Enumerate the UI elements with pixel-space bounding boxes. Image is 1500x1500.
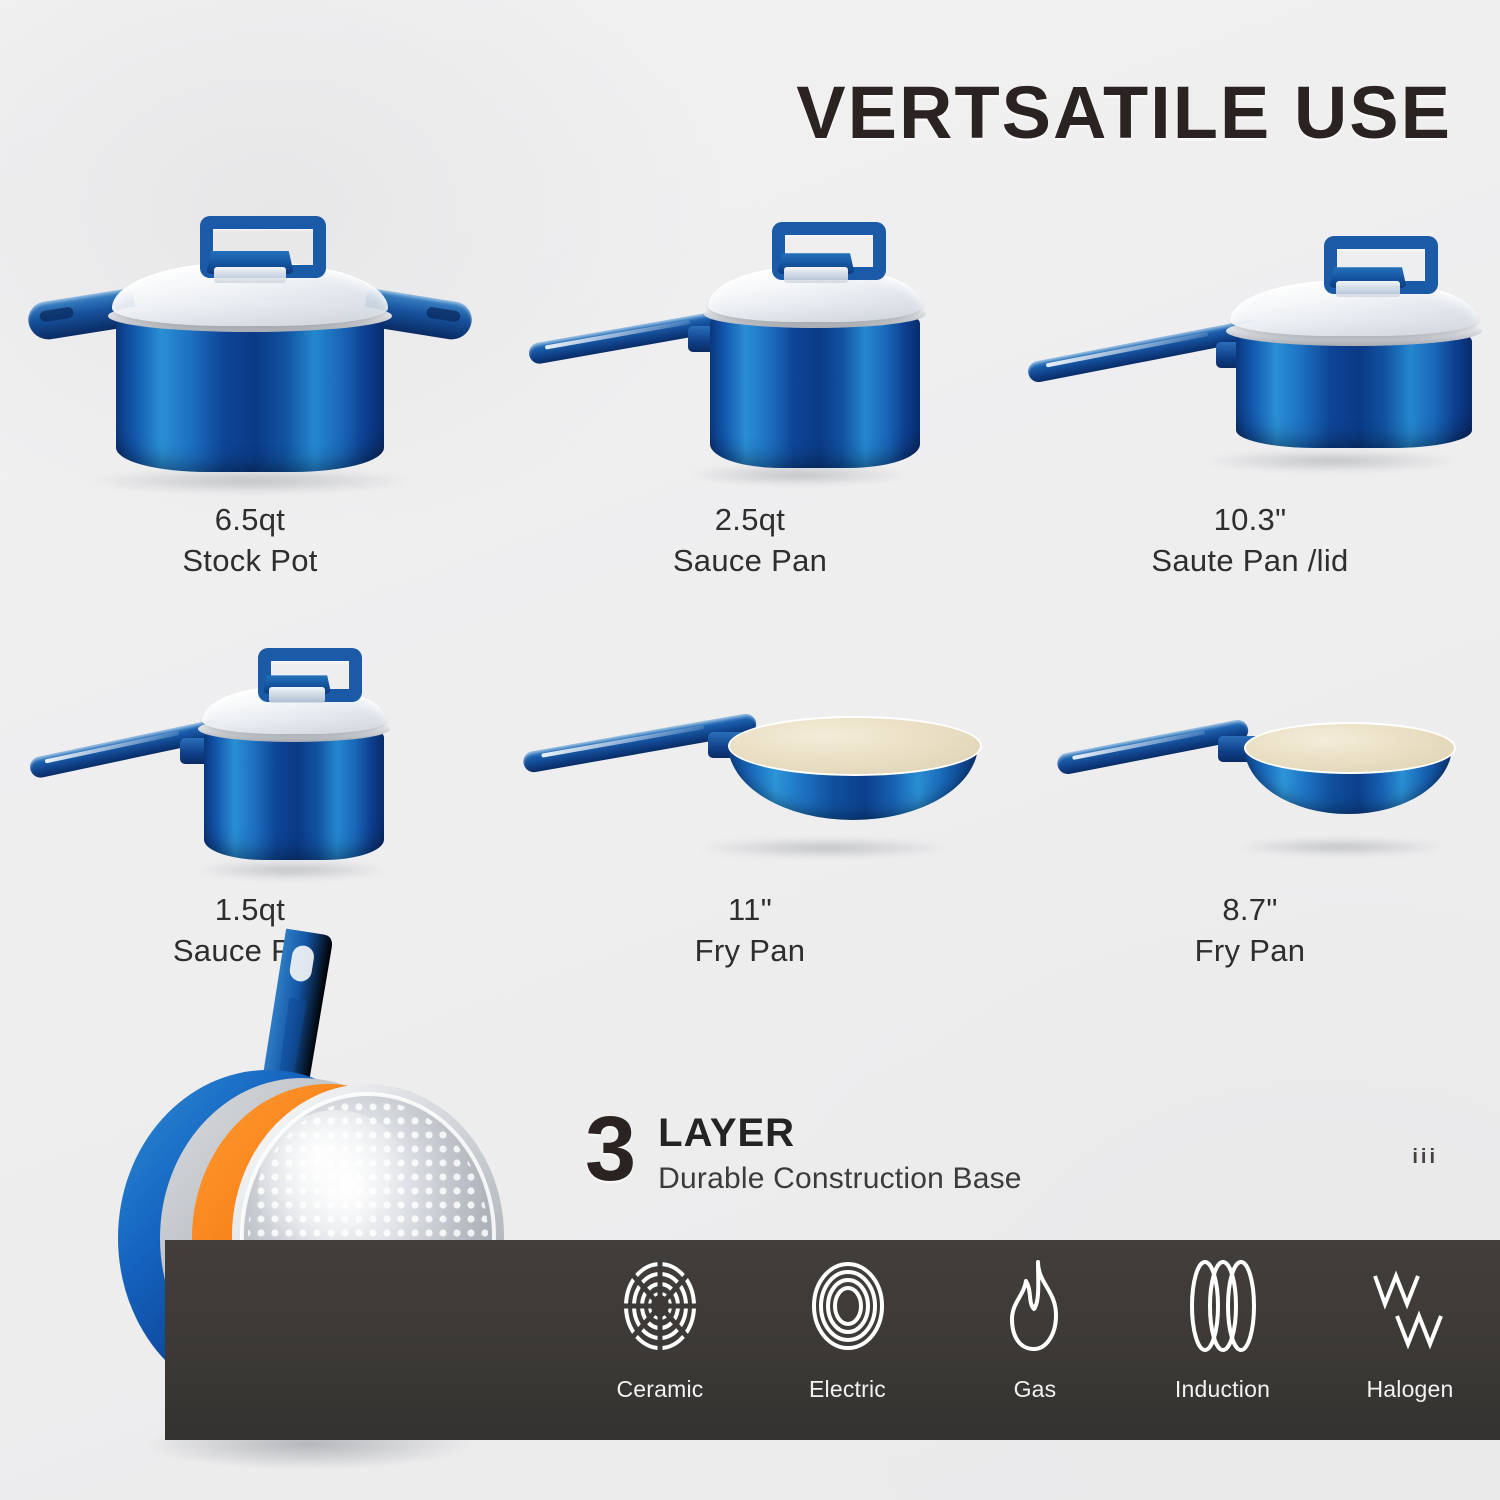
layer-word-label: LAYER <box>658 1112 1022 1154</box>
product-caption: 2.5qt Sauce Pan <box>673 500 827 582</box>
compatibility-item-electric: Electric <box>773 1258 923 1403</box>
product-caption: 10.3" Saute Pan /lid <box>1151 500 1348 582</box>
pan-ceramic-interior <box>728 716 982 776</box>
compatibility-bar: Ceramic Electric <box>165 1240 1500 1440</box>
product-size: 6.5qt <box>182 500 317 541</box>
product-cell-fry-pan-large: 11" Fry Pan <box>500 640 1000 972</box>
product-caption: 8.7" Fry Pan <box>1195 890 1306 972</box>
product-cell-fry-pan-small: 8.7" Fry Pan <box>1000 640 1500 972</box>
layer-subtitle: Durable Construction Base <box>658 1162 1022 1196</box>
gas-flame-icon <box>1004 1258 1066 1354</box>
compatibility-label: Halogen <box>1366 1376 1453 1403</box>
knob-glass-base <box>1336 281 1399 297</box>
pot-body <box>1236 336 1472 448</box>
product-caption: 11" Fry Pan <box>695 890 806 972</box>
small-sauce-pan-with-lid-image <box>20 640 480 890</box>
knob-glass-base <box>784 267 847 283</box>
handle-highlight <box>541 725 704 758</box>
product-grid: 6.5qt Stock Pot <box>0 200 1500 972</box>
handle-notch <box>39 306 74 322</box>
drop-shadow <box>700 838 950 858</box>
compatibility-item-induction: Induction <box>1148 1258 1298 1403</box>
pan-ceramic-interior <box>1244 722 1456 774</box>
product-cell-stock-pot: 6.5qt Stock Pot <box>0 200 500 582</box>
knob-glass-base <box>269 687 325 703</box>
infographic-canvas: VERTSATILE USE <box>0 0 1500 1500</box>
handle-highlight <box>44 731 179 763</box>
product-name: Stock Pot <box>182 541 317 582</box>
product-size: 2.5qt <box>673 500 827 541</box>
lid-knob <box>200 216 300 274</box>
page-title: VERTSATILE USE <box>0 70 1452 155</box>
product-name: Fry Pan <box>1195 931 1306 972</box>
small-marking: iii <box>1412 1146 1438 1169</box>
sauce-pan-with-lid-image <box>520 200 980 500</box>
pot-body <box>116 320 384 472</box>
handle-highlight <box>1072 730 1206 760</box>
lid-knob <box>1324 236 1412 288</box>
knob-glass-base <box>214 267 286 283</box>
three-layer-callout: 3 LAYER Durable Construction Base <box>585 1112 1022 1196</box>
product-name: Saute Pan /lid <box>1151 541 1348 582</box>
product-size: 11" <box>695 890 806 931</box>
compatibility-label: Induction <box>1175 1376 1270 1403</box>
compatibility-item-gas: Gas <box>960 1258 1110 1403</box>
saute-pan-with-lid-image <box>1020 200 1480 500</box>
lid-knob <box>772 222 860 274</box>
handle-highlight <box>545 320 690 349</box>
product-row-1: 6.5qt Stock Pot <box>0 200 1500 582</box>
compatibility-item-halogen: Halogen <box>1335 1258 1485 1403</box>
compatibility-icon-list: Ceramic Electric <box>585 1258 1485 1428</box>
drop-shadow <box>196 860 386 880</box>
product-size: 8.7" <box>1195 890 1306 931</box>
pot-body <box>710 318 920 468</box>
pot-body <box>204 732 384 860</box>
compatibility-item-ceramic: Ceramic <box>585 1258 735 1403</box>
product-size: 10.3" <box>1151 500 1348 541</box>
drop-shadow <box>1236 838 1446 856</box>
handle-highlight <box>1046 332 1209 367</box>
product-name: Sauce Pan <box>673 541 827 582</box>
ceramic-hob-icon <box>623 1258 697 1354</box>
compatibility-label: Electric <box>809 1376 886 1403</box>
layer-count-number: 3 <box>585 1112 636 1187</box>
drop-shadow <box>1206 450 1456 472</box>
product-cell-saute-pan: 10.3" Saute Pan /lid <box>1000 200 1500 582</box>
product-cell-sauce-pan: 2.5qt Sauce Pan <box>500 200 1000 582</box>
large-fry-pan-image <box>520 640 980 890</box>
stock-pot-with-lid-image <box>20 200 480 500</box>
product-caption: 6.5qt Stock Pot <box>182 500 317 582</box>
product-name: Fry Pan <box>695 931 806 972</box>
lid-knob <box>258 648 336 694</box>
electric-coil-icon <box>811 1258 885 1354</box>
handle-notch <box>426 306 461 322</box>
small-fry-pan-image <box>1020 640 1480 890</box>
compatibility-label: Ceramic <box>616 1376 703 1403</box>
halogen-wave-icon <box>1369 1258 1451 1354</box>
compatibility-label: Gas <box>1014 1376 1057 1403</box>
induction-coil-icon <box>1183 1258 1263 1354</box>
